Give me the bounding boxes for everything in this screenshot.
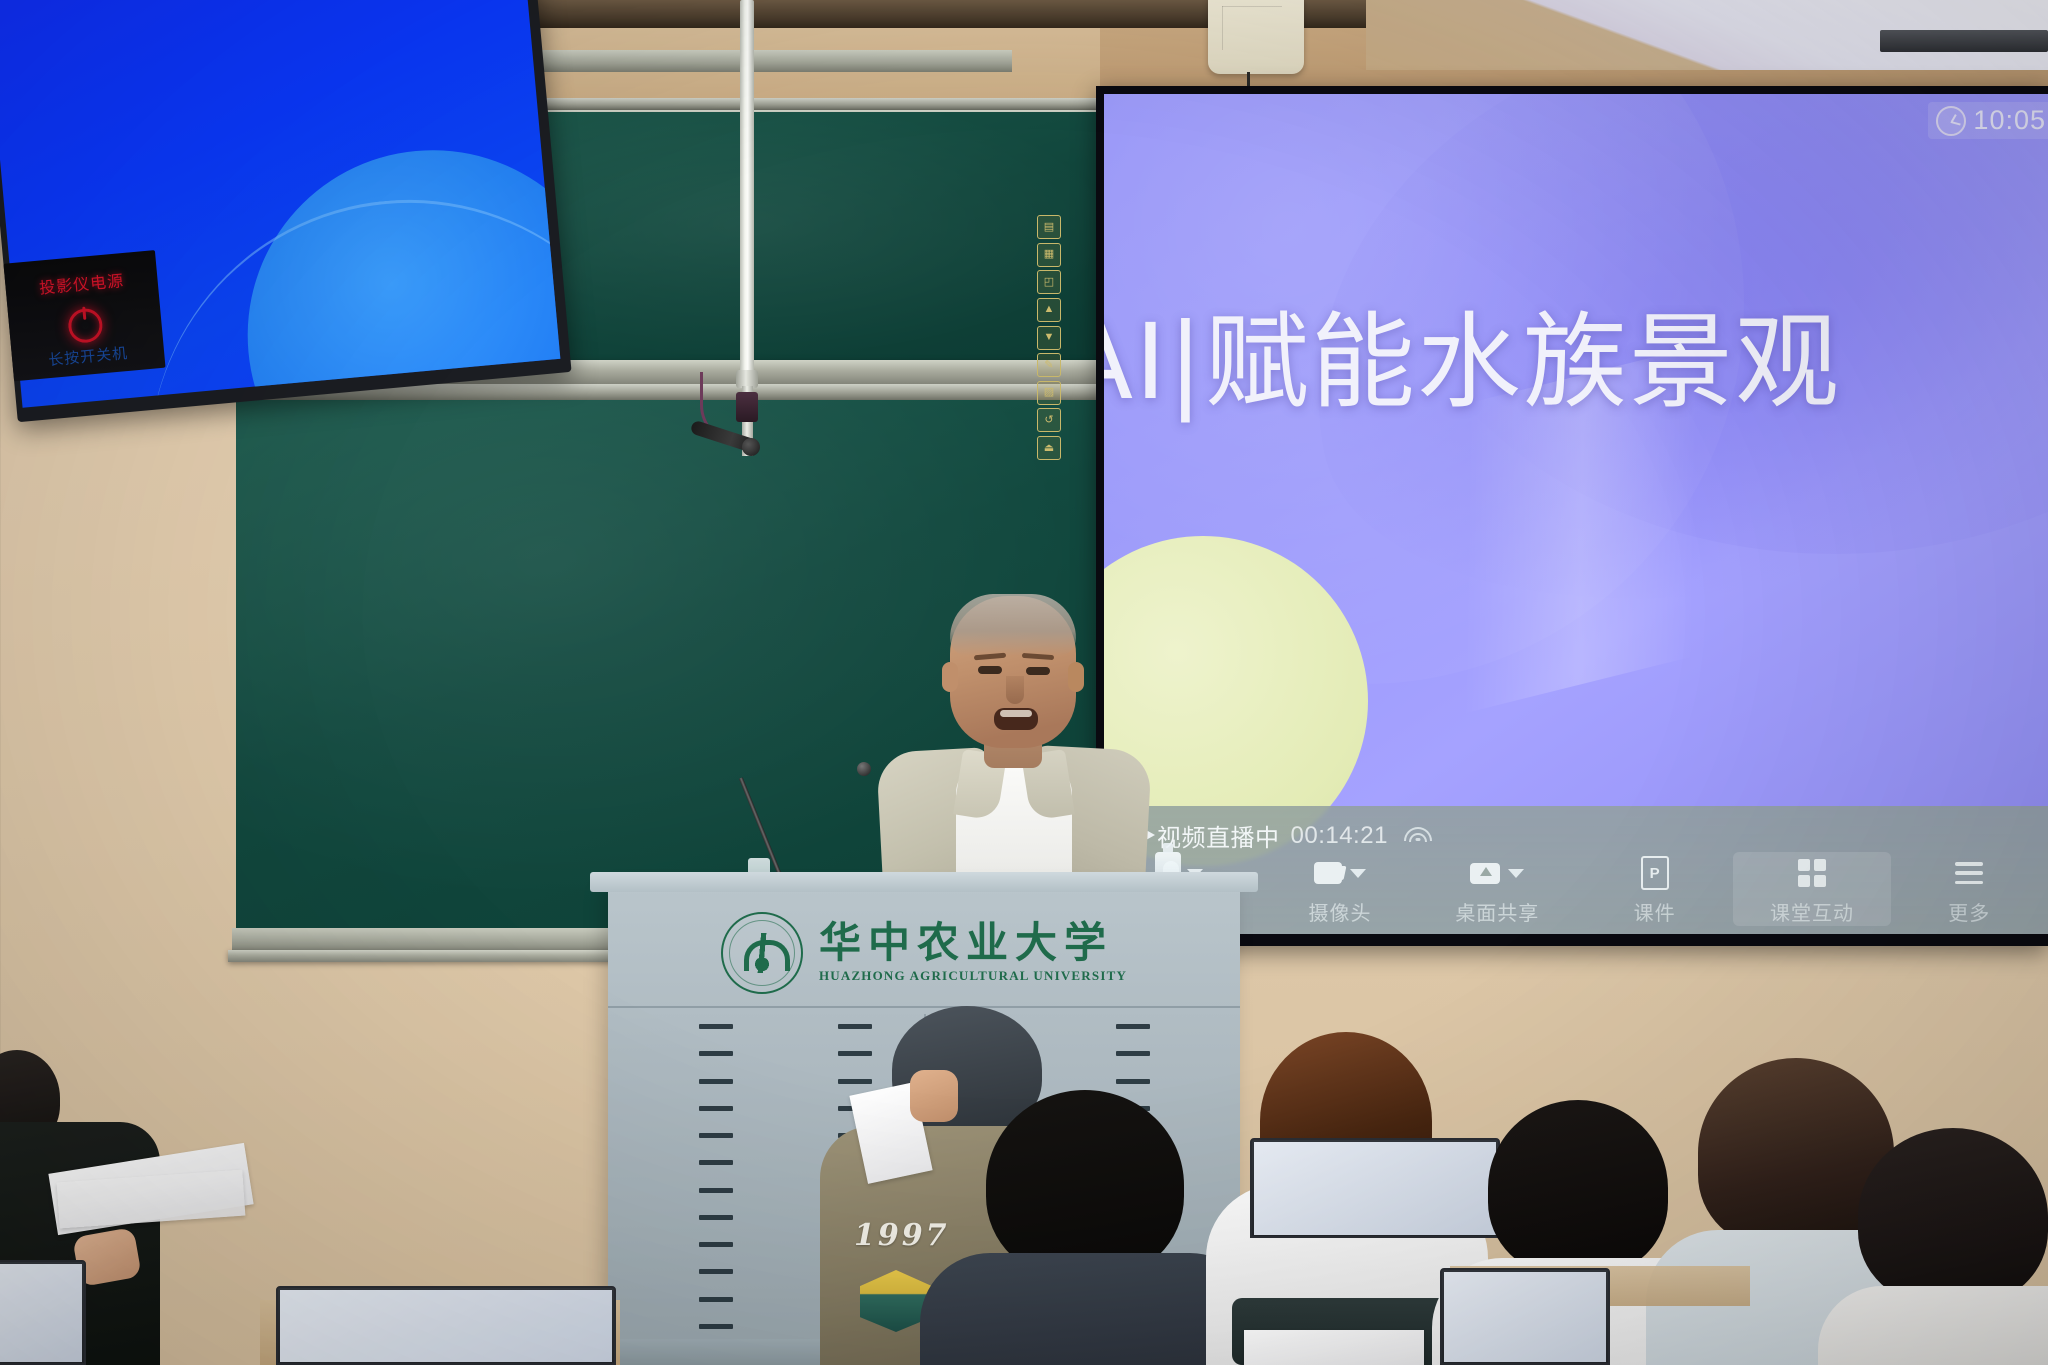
hanging-microphone-pole <box>740 0 754 385</box>
undo-icon[interactable]: ↺ <box>1037 408 1061 432</box>
desk-notebook <box>1244 1330 1424 1365</box>
exit-icon[interactable]: ⏏ <box>1037 436 1061 460</box>
laptop-screen <box>0 1264 82 1362</box>
screen-share-icon <box>1470 856 1524 890</box>
blackboard-upper-panel <box>500 112 1124 362</box>
presenter <box>880 590 1140 900</box>
lectern-top-surface <box>590 872 1258 892</box>
presenter-ear-left <box>942 662 958 692</box>
university-name-chinese: 华中农业大学 <box>819 922 1127 964</box>
courseware-icon: P <box>1641 856 1669 890</box>
chevron-down-icon <box>1508 869 1524 878</box>
toolbar-label-courseware: 课件 <box>1634 897 1676 926</box>
ceiling-light-bar <box>1880 30 2048 52</box>
toolbar-items[interactable]: 麦克风 摄像头 桌面共享 <box>1104 852 2048 934</box>
blackboard-control-strip[interactable]: ▤ ▦ ◰ ▲ ▼ ✎ ▨ ↺ ⏏ <box>1036 215 1062 460</box>
vent-column <box>699 1014 733 1339</box>
toolbar-item-courseware[interactable]: P 课件 <box>1576 852 1733 926</box>
student-top <box>1818 1286 2048 1365</box>
audience-student-right-3 <box>1848 1128 2048 1365</box>
wall-monitor[interactable]: 投影仪电源 长按开关机 <box>0 0 572 422</box>
student-head <box>1858 1128 2048 1306</box>
slide-clock: 10:05 <box>1928 102 2048 139</box>
presenter-nose <box>1006 676 1024 704</box>
calendar-icon[interactable]: ▦ <box>1037 243 1061 267</box>
clock-icon <box>1936 106 1966 136</box>
toolbar-label-camera: 摄像头 <box>1308 897 1371 926</box>
jacket-number: 1997 <box>854 1218 950 1253</box>
control-panel-sublabel: 长按开关机 <box>12 339 165 374</box>
broadcast-status-label: 视频直播中 <box>1157 818 1280 853</box>
presenter-hair <box>950 594 1076 656</box>
toolbar-item-screen-share[interactable]: 桌面共享 <box>1419 852 1576 926</box>
slide-title: AI|赋能水族景观 <box>1104 310 1841 414</box>
toolbar-item-camera[interactable]: 摄像头 <box>1261 852 1418 926</box>
trash-icon[interactable]: ▤ <box>1037 215 1061 239</box>
toolbar-item-more[interactable]: 更多 <box>1891 852 2048 926</box>
seal-mark <box>742 933 782 973</box>
student-hand <box>910 1070 958 1122</box>
slide-surface[interactable]: AI|赋能水族景观 10:05 视频直播中 00:14:21 <box>1104 94 2048 934</box>
university-logo: 华中农业大学 HUAZHONG AGRICULTURAL UNIVERSITY <box>608 910 1240 996</box>
ap-grille <box>1222 6 1282 50</box>
toolbar-label-more: 更多 <box>1948 897 1990 926</box>
toolbar-label-class-interaction: 课堂互动 <box>1770 897 1854 926</box>
broadcast-elapsed-time: 00:14:21 <box>1291 822 1388 850</box>
board-track-upper <box>500 50 1012 72</box>
university-logo-text: 华中农业大学 HUAZHONG AGRICULTURAL UNIVERSITY <box>819 922 1127 984</box>
lectern-divider <box>608 1006 1240 1008</box>
university-seal-icon <box>721 912 803 994</box>
laptop-front-left[interactable] <box>276 1286 616 1365</box>
laptop-right[interactable] <box>1440 1268 1610 1365</box>
hamburger-menu-icon <box>1955 856 1983 890</box>
audience-student-center <box>950 1135 1250 1365</box>
page-down-icon[interactable]: ▼ <box>1037 326 1061 350</box>
wifi-access-point <box>1208 0 1304 74</box>
presenter-eye-right <box>1026 667 1050 675</box>
student-head <box>986 1090 1184 1280</box>
projection-screen[interactable]: AI|赋能水族景观 10:05 视频直播中 00:14:21 <box>1096 86 2048 946</box>
chevron-down-icon <box>1350 869 1366 878</box>
lecture-hall-photo: ▤ ▦ ◰ ▲ ▼ ✎ ▨ ↺ ⏏ 投影仪电源 长按开关机 <box>0 0 2048 1365</box>
microphone-tip <box>742 438 760 456</box>
laptop-left[interactable] <box>0 1260 86 1365</box>
eraser-icon[interactable]: ▨ <box>1037 381 1061 405</box>
camera-icon <box>1314 856 1366 890</box>
page-up-icon[interactable]: ▲ <box>1037 298 1061 322</box>
projector-control-panel[interactable]: 投影仪电源 长按开关机 <box>3 250 165 381</box>
control-panel-title: 投影仪电源 <box>5 264 159 302</box>
presenter-ear-right <box>1068 662 1084 692</box>
toolbar-label-screen-share: 桌面共享 <box>1455 897 1539 926</box>
power-button-icon[interactable] <box>67 307 104 344</box>
student-head <box>1488 1100 1668 1276</box>
gooseneck-microphone-head <box>857 762 871 776</box>
presenter-eye-left <box>978 666 1002 674</box>
pen-icon[interactable]: ✎ <box>1037 353 1061 377</box>
wifi-icon <box>1405 827 1431 844</box>
clock-time: 10:05 <box>1973 105 2046 136</box>
grid-apps-icon <box>1798 856 1826 890</box>
toolbar-item-class-interaction[interactable]: 课堂互动 <box>1733 852 1890 926</box>
laptop-screen <box>280 1290 612 1362</box>
laptop-screen <box>1444 1272 1606 1362</box>
university-name-english: HUAZHONG AGRICULTURAL UNIVERSITY <box>819 968 1127 984</box>
live-broadcast-toolbar[interactable]: 视频直播中 00:14:21 麦克风 摄 <box>1104 806 2048 934</box>
screenshot-icon[interactable]: ◰ <box>1037 270 1061 294</box>
presenter-mouth <box>994 708 1038 730</box>
